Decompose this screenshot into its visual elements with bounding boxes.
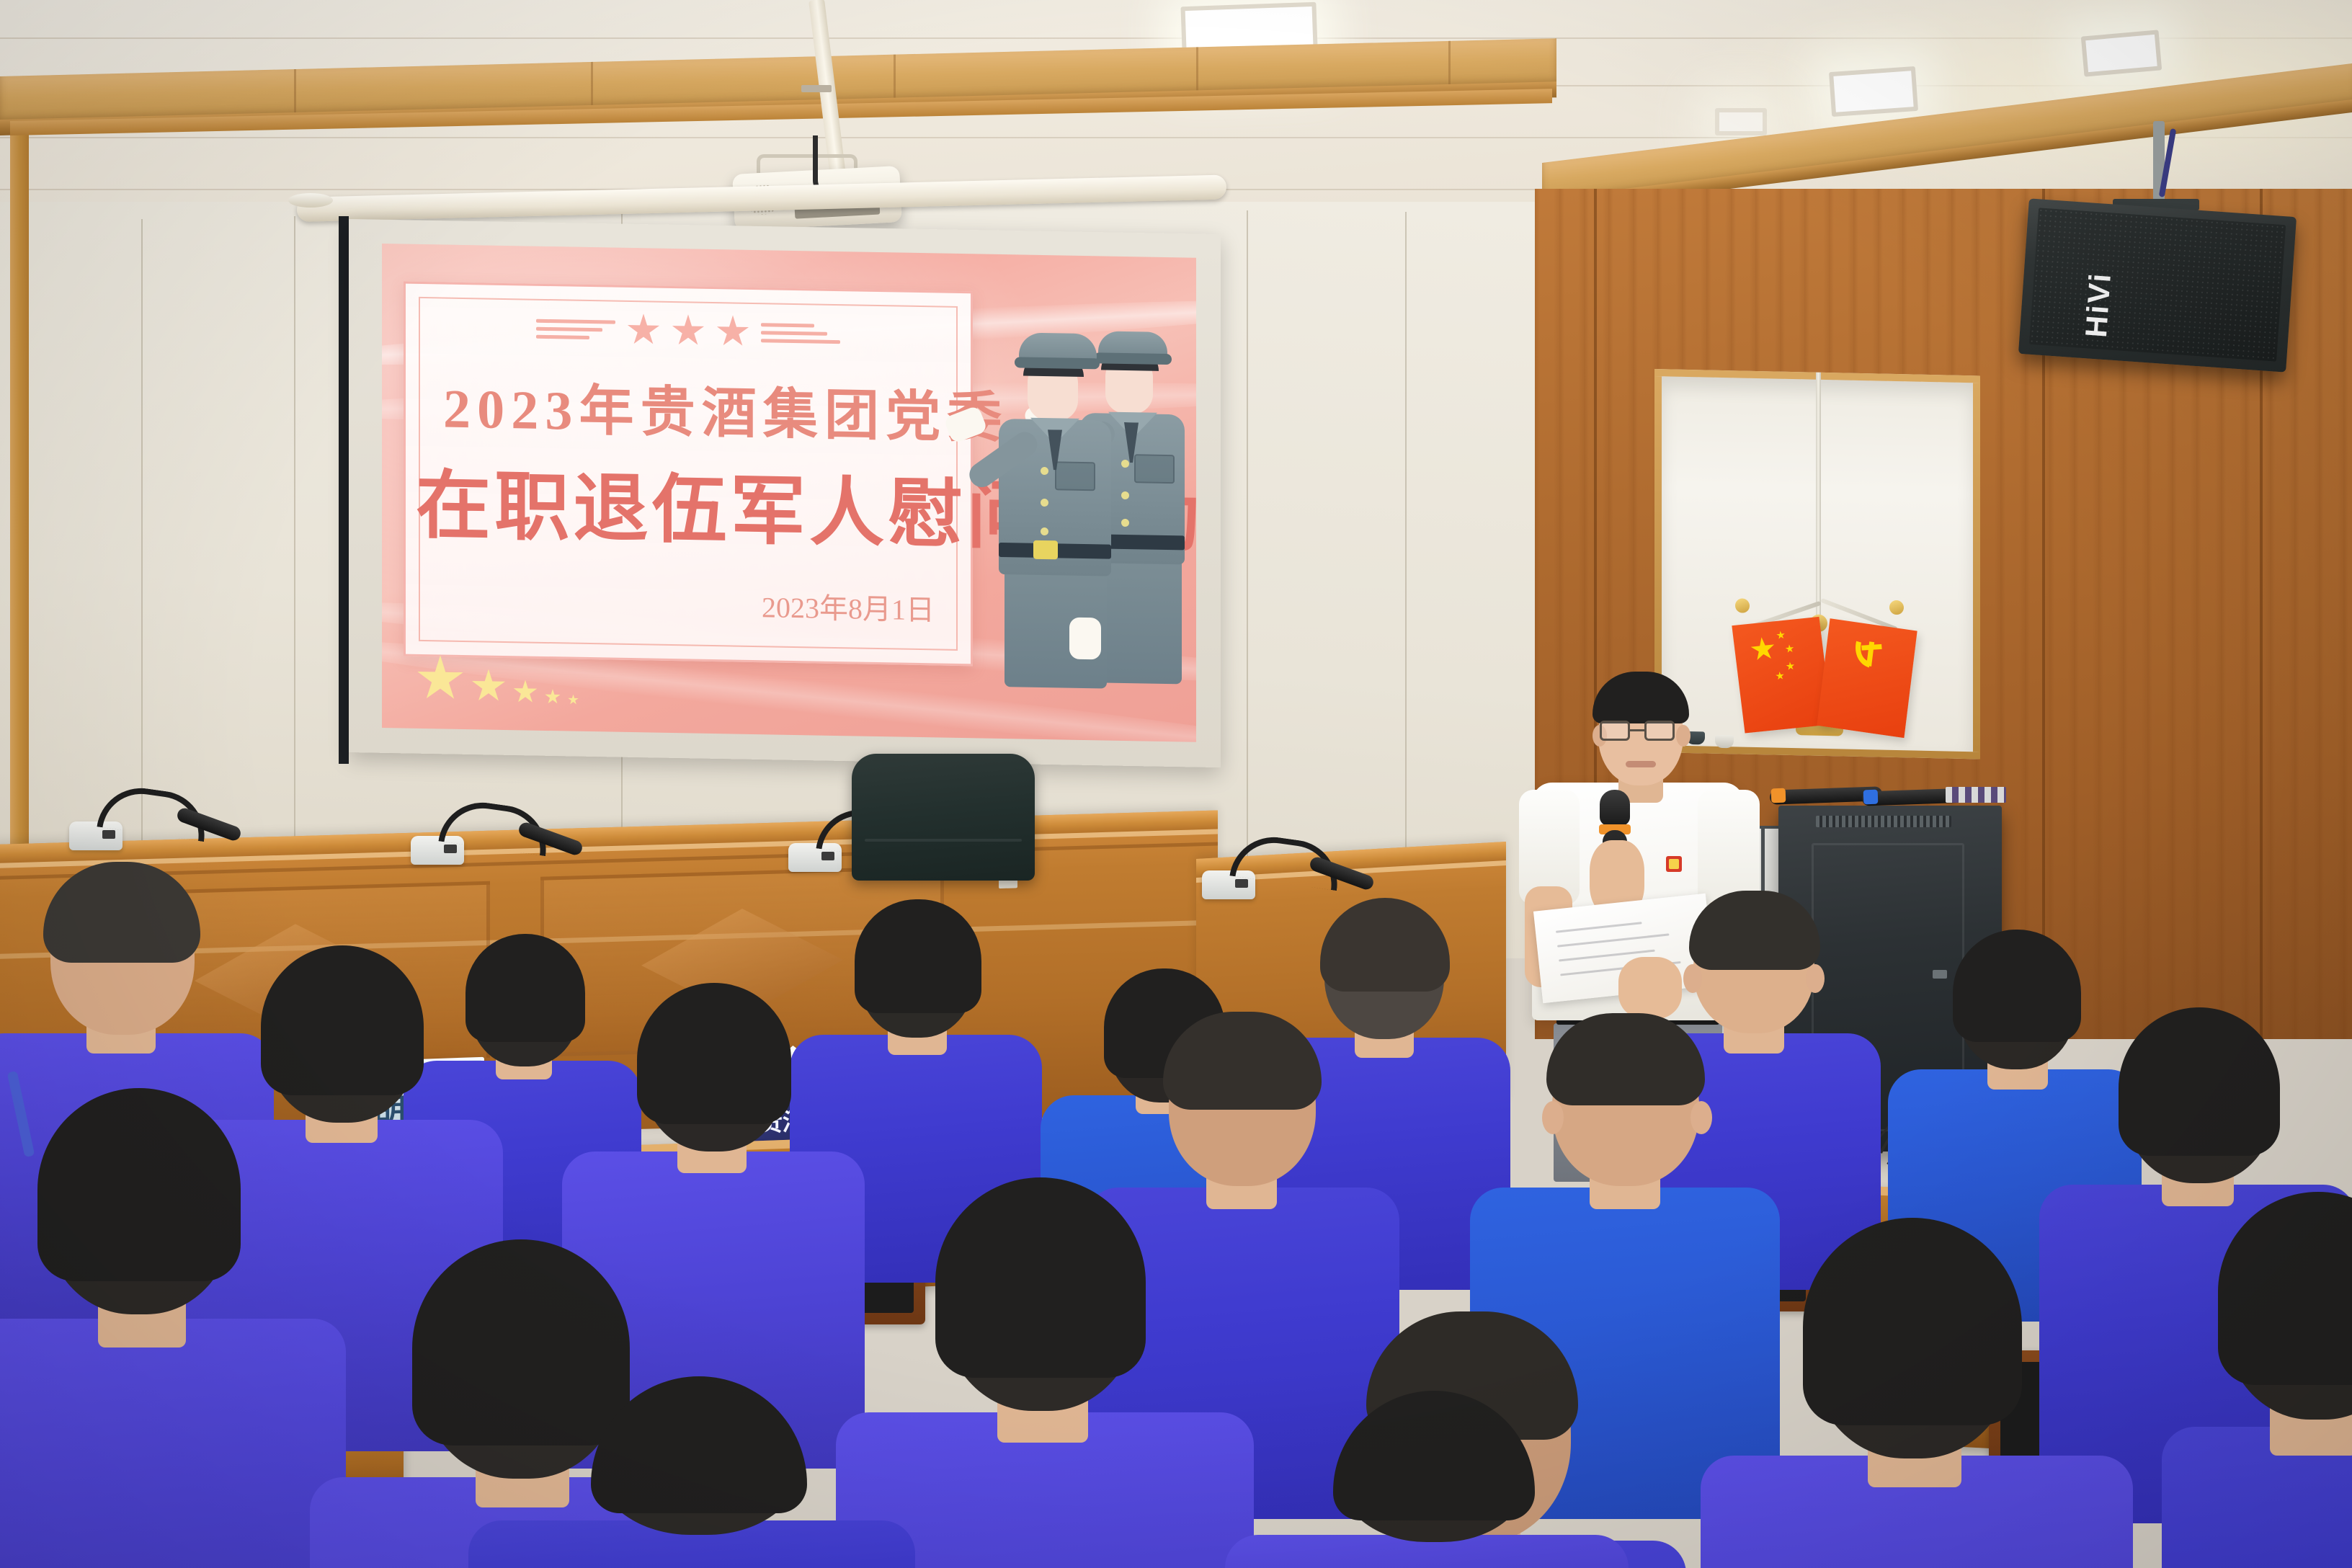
slide-star-decoration <box>536 312 840 350</box>
gold-star-icon-5 <box>568 695 579 705</box>
glasses-lens-left <box>1600 721 1630 741</box>
flag-finial-right <box>1889 600 1904 615</box>
hivi-wall-speaker: HiVi <box>2018 198 2297 372</box>
projector-pole-clamp <box>801 85 832 92</box>
presenter-glasses <box>1600 721 1683 744</box>
gold-star-icon-4 <box>545 689 561 705</box>
slide-soldier-illustration <box>993 298 1195 705</box>
slide-star-icon-1 <box>627 313 660 347</box>
handheld-mic-head <box>1600 790 1630 826</box>
gold-star-icon-3 <box>513 680 538 705</box>
slide-content-card: 2023年贵酒集团党委 在职退伍军人慰问活动 2023年8月1日 <box>404 282 973 667</box>
ceiling-light-2 <box>1829 66 1918 117</box>
slide-deco-lines-right <box>761 323 840 344</box>
meeting-room-photo: 2023年贵酒集团党委 在职退伍军人慰问活动 2023年8月1日 <box>0 0 2352 1568</box>
wireless-mic-blue-band <box>1863 790 1879 805</box>
ceiling-light-3 <box>2081 30 2162 76</box>
gold-star-icon-1 <box>416 655 464 703</box>
presenter-hair <box>1592 672 1689 723</box>
rack-indicator-panel <box>1946 787 2006 803</box>
presenter-party-pin <box>1666 856 1682 872</box>
projected-slide: 2023年贵酒集团党委 在职退伍军人慰问活动 2023年8月1日 <box>382 244 1196 742</box>
slide-star-icon-3 <box>716 315 749 349</box>
rack-door-handle[interactable] <box>1933 970 1947 979</box>
presenter-mouth <box>1626 761 1656 767</box>
presidium-executive-chair[interactable] <box>852 754 1035 881</box>
slide-gold-star-decoration <box>416 655 579 705</box>
screen-left-edge <box>339 216 349 764</box>
wall-trim-left <box>10 121 29 856</box>
slide-date: 2023年8月1日 <box>762 584 935 628</box>
gold-star-icon-2 <box>471 669 506 704</box>
slide-star-icon-2 <box>672 314 705 348</box>
presenter-hand-paper <box>1618 957 1682 1019</box>
screen-roller-cap <box>288 193 333 208</box>
ceiling-light-4 <box>1715 108 1767 135</box>
flag-finial-left <box>1735 598 1750 612</box>
hivi-brand-label: HiVi <box>2079 271 2118 339</box>
glasses-lens-right <box>1644 721 1675 741</box>
rack-vent <box>1816 816 1951 827</box>
slide-title-line-1: 2023年贵酒集团党委 <box>443 363 1008 453</box>
cpc-hammer-sickle-icon <box>1847 635 1892 676</box>
speaker-grille <box>2029 208 2286 362</box>
flag-cpc <box>1817 618 1917 738</box>
china-flag-small-star-icon-1 <box>1776 631 1786 640</box>
slide-deco-lines-left <box>536 318 615 339</box>
